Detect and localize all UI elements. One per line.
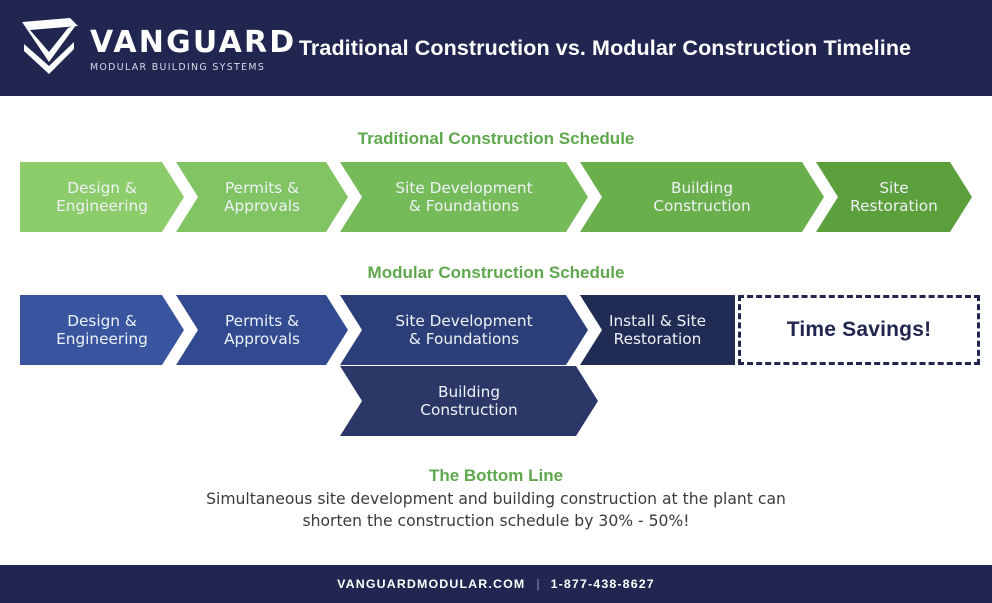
traditional-section-heading: Traditional Construction Schedule [0, 129, 992, 149]
modular-step-4: Install & SiteRestoration [580, 295, 735, 365]
traditional-step-4-label: BuildingConstruction [647, 179, 756, 215]
modular-secondary-step-1: BuildingConstruction [340, 366, 598, 436]
modular-step-1-label: Design &Engineering [50, 312, 154, 348]
modular-step-1: Design &Engineering [20, 295, 184, 365]
traditional-step-3: Site Development& Foundations [340, 162, 588, 232]
modular-timeline-row-secondary: BuildingConstruction [0, 366, 992, 436]
footer-separator: | [536, 577, 539, 591]
traditional-timeline-row: Design &EngineeringPermits &ApprovalsSit… [0, 162, 992, 232]
footer-phone[interactable]: 1-877-438-8627 [551, 577, 655, 591]
modular-section-heading: Modular Construction Schedule [0, 263, 992, 283]
vanguard-chevron-logo-icon [18, 16, 80, 80]
traditional-step-5-label: SiteRestoration [844, 179, 944, 215]
page-title: Traditional Construction vs. Modular Con… [255, 0, 955, 96]
modular-step-2: Permits &Approvals [176, 295, 348, 365]
traditional-step-1: Design &Engineering [20, 162, 184, 232]
time-savings-callout: Time Savings! [738, 295, 980, 365]
traditional-step-5: SiteRestoration [816, 162, 972, 232]
modular-step-3-label: Site Development& Foundations [389, 312, 538, 348]
modular-step-3: Site Development& Foundations [340, 295, 588, 365]
footer-website[interactable]: VANGUARDMODULAR.COM [337, 577, 525, 591]
modular-secondary-step-1-label: BuildingConstruction [414, 383, 523, 419]
page-header: VANGUARD MODULAR BUILDING SYSTEMS Tradit… [0, 0, 992, 96]
time-savings-label: Time Savings! [787, 318, 932, 342]
page-footer: VANGUARDMODULAR.COM | 1-877-438-8627 [0, 565, 992, 603]
modular-step-4-label: Install & SiteRestoration [603, 312, 712, 348]
bottom-line-title: The Bottom Line [0, 466, 992, 486]
traditional-step-4: BuildingConstruction [580, 162, 824, 232]
modular-step-2-label: Permits &Approvals [218, 312, 306, 348]
infographic-page: VANGUARD MODULAR BUILDING SYSTEMS Tradit… [0, 0, 992, 603]
bottom-line-text-2: shorten the construction schedule by 30%… [0, 510, 992, 532]
bottom-line-body: Simultaneous site development and buildi… [0, 488, 992, 532]
traditional-step-2: Permits &Approvals [176, 162, 348, 232]
traditional-step-2-label: Permits &Approvals [218, 179, 306, 215]
bottom-line-text-1: Simultaneous site development and buildi… [0, 488, 992, 510]
traditional-step-3-label: Site Development& Foundations [389, 179, 538, 215]
traditional-step-1-label: Design &Engineering [50, 179, 154, 215]
